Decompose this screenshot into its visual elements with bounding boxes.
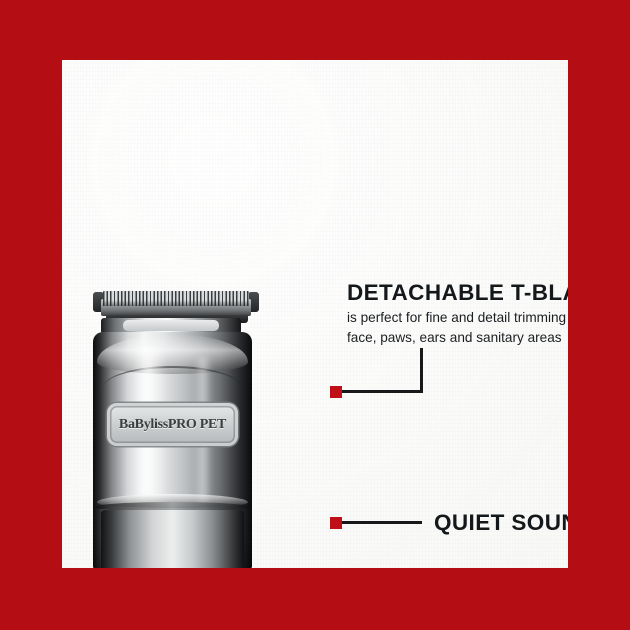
callout-heading-quiet-sound: QUIET SOUND — [434, 510, 568, 536]
callout-marker-t-blade — [330, 386, 342, 398]
brand-badge-label: BaBylissPRO PET — [119, 417, 226, 433]
trimmer-base — [101, 510, 244, 568]
brand-badge: BaBylissPRO PET — [107, 403, 238, 446]
callout-marker-quiet-sound — [330, 517, 342, 529]
red-border-frame: BaBylissPRO PET DETACHABLE T-BLADE is pe… — [0, 0, 630, 630]
product-image-trimmer: BaBylissPRO PET — [87, 288, 292, 568]
t-blade-assembly — [93, 291, 259, 317]
callout-heading-detachable-t-blade: DETACHABLE T-BLADE — [347, 280, 568, 306]
blade-teeth-shadow — [103, 300, 249, 306]
callout-connector-horizontal-t-blade — [340, 390, 423, 393]
callout-connector-horizontal-quiet-sound — [340, 521, 422, 524]
trimmer-neck-inset — [123, 320, 219, 331]
callout-connector-vertical-t-blade — [420, 348, 423, 393]
callout-body-detachable-t-blade: is perfect for fine and detail trimming … — [347, 308, 568, 348]
product-info-panel: BaBylissPRO PET DETACHABLE T-BLADE is pe… — [62, 60, 568, 568]
